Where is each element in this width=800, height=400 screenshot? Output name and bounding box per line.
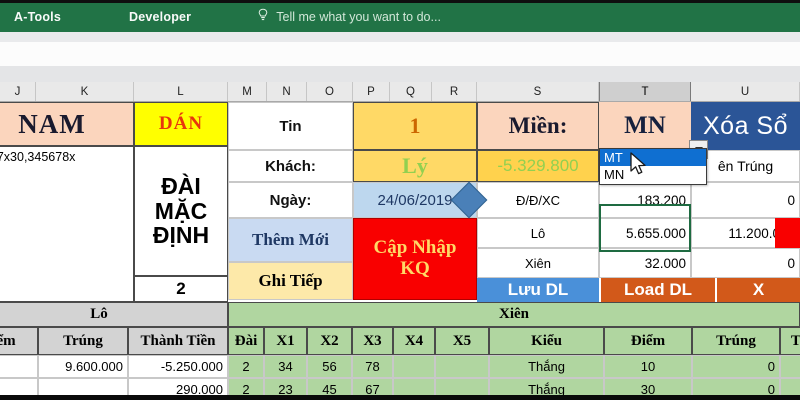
dropdown-option-mt[interactable]: MT <box>600 149 706 166</box>
column-header-O[interactable]: O <box>307 82 353 101</box>
table-row[interactable]: 9.600.000 <box>38 355 128 378</box>
toolbar-strip-lower <box>0 66 800 82</box>
column-header-T[interactable]: T <box>599 82 691 101</box>
dai-mac-dinh-line2: MẶC <box>155 199 207 224</box>
cell-nam-title[interactable]: NAM <box>0 102 134 146</box>
column-header-L[interactable]: L <box>134 82 228 101</box>
table-col-header-x5: X5 <box>435 327 489 355</box>
column-header-U[interactable]: U <box>691 82 800 101</box>
dropdown-option-mn[interactable]: MN <box>600 166 706 183</box>
column-header-Q[interactable]: Q <box>390 82 432 101</box>
cell-nam-numbers[interactable]: 4567x30,345678x <box>0 146 134 302</box>
cell-total-ddxc-value1[interactable]: 183.200 <box>599 182 691 218</box>
tell-me-text: Tell me what you want to do... <box>276 10 441 24</box>
cell-label-ngay[interactable]: Ngày: <box>228 182 353 218</box>
tell-me-box[interactable]: Tell me what you want to do... <box>257 8 441 26</box>
column-header-J[interactable]: J <box>0 82 36 101</box>
ribbon-tab-a-tools[interactable]: A-Tools <box>8 10 67 24</box>
worksheet-grid: NAM 4567x30,345678x DÁN ĐÀI MẶC ĐỊNH 2 T… <box>0 102 800 400</box>
cell-total-label-ddxc[interactable]: Đ/Đ/XC <box>477 182 599 218</box>
cell-total-ddxc-value2[interactable]: 0 <box>691 182 800 218</box>
column-header-M[interactable]: M <box>228 82 267 101</box>
cell-label-tin[interactable]: Tin <box>228 102 353 150</box>
table-col-header-diem: iểm <box>0 327 38 355</box>
table-col-header-trung: Trúng <box>38 327 128 355</box>
cell-balance[interactable]: -5.329.800 <box>477 150 599 182</box>
cell-mien-value[interactable]: MN <box>599 102 691 150</box>
table-row[interactable]: 30 <box>0 355 38 378</box>
cell-mien-label[interactable]: Miền: <box>477 102 599 150</box>
table-col-header-kieu: Kiểu <box>489 327 604 355</box>
table-col-header-x3: X3 <box>352 327 393 355</box>
table-col-header-thanh-tien2: Th <box>780 327 800 355</box>
cell-total-xien-value2[interactable]: 0 <box>691 248 800 278</box>
table-row[interactable]: -5.250.000 <box>128 355 228 378</box>
column-header-K[interactable]: K <box>36 82 134 101</box>
table-col-header-x1: X1 <box>264 327 307 355</box>
table-row[interactable] <box>780 355 800 378</box>
column-header-R[interactable]: R <box>432 82 477 101</box>
cap-nhap-kq-line1: Cập Nhập <box>374 238 457 259</box>
column-header-N[interactable]: N <box>267 82 307 101</box>
table-col-header-x4: X4 <box>393 327 435 355</box>
mien-dropdown-list[interactable]: MT MN <box>599 148 707 185</box>
table-col-header-diem2: Điểm <box>604 327 692 355</box>
dai-mac-dinh-line1: ĐÀI <box>161 174 201 199</box>
button-them-moi[interactable]: Thêm Mới <box>228 218 353 262</box>
table-col-header-thanh-tien: Thành Tiền <box>128 327 228 355</box>
cell-dan-label[interactable]: DÁN <box>134 102 228 146</box>
table-row[interactable] <box>435 355 489 378</box>
toolbar-strip-upper <box>0 32 800 42</box>
cell-total-label-lo[interactable]: Lô <box>477 218 599 248</box>
cell-dai-mac-dinh[interactable]: ĐÀI MẶC ĐỊNH <box>134 146 228 276</box>
button-xoa-dl[interactable]: X <box>717 278 800 302</box>
column-header-row: J K L M N O P Q R S T U <box>0 82 800 102</box>
cell-label-khach[interactable]: Khách: <box>228 150 353 182</box>
table-row[interactable] <box>393 355 435 378</box>
table-row[interactable]: 2 <box>228 355 264 378</box>
table-row[interactable]: 78 <box>352 355 393 378</box>
excel-window: A-Tools Developer Tell me what you want … <box>0 0 800 400</box>
button-luu-dl[interactable]: Lưu DL <box>477 278 599 302</box>
table-col-header-dai: Đài <box>228 327 264 355</box>
ribbon-tab-strip: A-Tools Developer Tell me what you want … <box>0 2 800 32</box>
cell-value-tin[interactable]: 1 <box>353 102 477 150</box>
cell-alert-marker <box>775 218 800 248</box>
ribbon-tab-developer[interactable]: Developer <box>123 10 197 24</box>
column-header-P[interactable]: P <box>353 82 390 101</box>
cap-nhap-kq-line2: KQ <box>400 259 430 280</box>
table-group-header-xien: Xiên <box>228 302 800 327</box>
table-row[interactable]: 0 <box>692 355 780 378</box>
table-col-header-trung2: Trúng <box>692 327 780 355</box>
dai-mac-dinh-line3: ĐỊNH <box>153 223 209 248</box>
button-ghi-tiep[interactable]: Ghi Tiếp <box>228 262 353 300</box>
table-row[interactable]: Thắng <box>489 355 604 378</box>
table-col-header-x2: X2 <box>307 327 352 355</box>
cell-total-lo-value1[interactable]: 5.655.000 <box>599 218 691 248</box>
cell-total-label-xien[interactable]: Xiên <box>477 248 599 278</box>
formula-bar[interactable] <box>0 42 800 66</box>
cell-value-khach[interactable]: Lý <box>353 150 477 182</box>
cell-total-xien-value1[interactable]: 32.000 <box>599 248 691 278</box>
table-row[interactable]: 34 <box>264 355 307 378</box>
lightbulb-icon <box>257 8 269 26</box>
column-header-S[interactable]: S <box>477 82 599 101</box>
button-load-dl[interactable]: Load DL <box>601 278 715 302</box>
table-row[interactable]: 56 <box>307 355 352 378</box>
button-cap-nhap-kq[interactable]: Cập Nhập KQ <box>353 218 477 300</box>
cell-dai-mac-dinh-value[interactable]: 2 <box>134 276 228 302</box>
table-group-header-lo: Lô <box>0 302 228 327</box>
window-bottom-edge <box>0 395 800 400</box>
table-row[interactable]: 10 <box>604 355 692 378</box>
